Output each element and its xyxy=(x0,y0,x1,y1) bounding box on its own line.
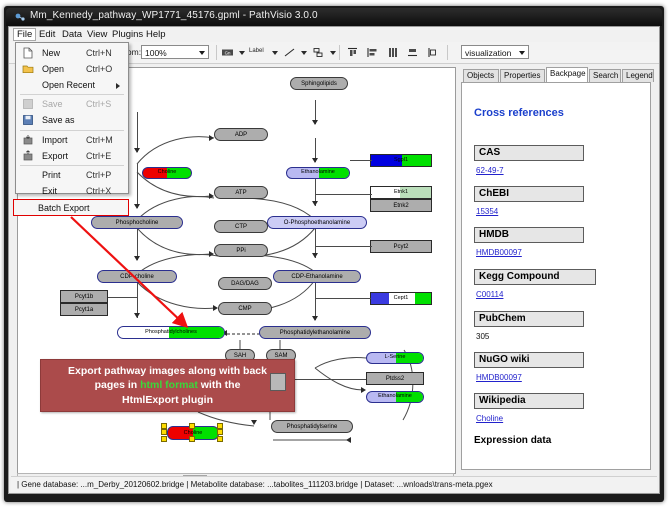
file-menu-open-label: Open xyxy=(42,64,64,74)
resize-handle-sw[interactable] xyxy=(161,436,167,442)
arrow-to-ps xyxy=(251,420,257,425)
align-center-icon[interactable] xyxy=(385,45,400,60)
file-menu-exit-label: Exit xyxy=(42,186,57,196)
align-top-icon[interactable] xyxy=(345,45,360,60)
resize-handle-e[interactable] xyxy=(217,429,223,435)
selected-node-choline[interactable]: Choline xyxy=(161,423,223,441)
file-menu-print-label: Print xyxy=(42,170,61,180)
file-menu-export-label: Export xyxy=(42,151,68,161)
file-menu-exit-accel: Ctrl+X xyxy=(86,186,111,196)
folder-open-icon xyxy=(22,63,34,75)
xref-source-nugo: NuGO wiki xyxy=(474,352,584,368)
align-left-icon[interactable] xyxy=(365,45,380,60)
node-atp[interactable]: ATP xyxy=(214,186,268,199)
side-dock: Objects Properties Backpage Search Legen… xyxy=(459,67,653,472)
node-phosphatidylserine[interactable]: Phosphatidylserine xyxy=(271,420,353,433)
tab-objects[interactable]: Objects xyxy=(463,69,499,82)
tab-legend[interactable]: Legend xyxy=(622,69,654,82)
menu-file[interactable]: File xyxy=(13,28,36,41)
zoom-value: 100% xyxy=(145,48,167,58)
arrow-choline-in xyxy=(346,437,351,443)
statusbar-text: | Gene database: ...m_Derby_20120602.bri… xyxy=(17,480,493,489)
line-dropdown-icon[interactable] xyxy=(301,51,307,55)
expression-data-heading: Expression data xyxy=(474,435,551,446)
label-dropdown-icon[interactable] xyxy=(272,51,278,55)
xref-value-wikipedia[interactable]: Choline xyxy=(476,414,503,423)
file-menu-print[interactable]: Print Ctrl+P xyxy=(16,167,128,183)
node-l-serine-label: L-Serine xyxy=(385,355,406,361)
visualization-combobox[interactable]: visualization xyxy=(461,45,529,59)
node-ethanolamine-2-label: Ethanolamine xyxy=(378,394,412,400)
tab-properties[interactable]: Properties xyxy=(500,69,545,82)
file-menu-batch-export-label: Batch Export xyxy=(38,203,90,213)
xref-value-hmdb[interactable]: HMDB00097 xyxy=(476,248,522,257)
callout-line3: HtmlExport plugin xyxy=(122,394,213,406)
callout-line2-highlight: html format xyxy=(140,379,198,391)
file-menu-import-accel: Ctrl+M xyxy=(86,135,113,145)
screenshot-root: Mm_Kennedy_pathway_WP1771_45176.gpml - P… xyxy=(0,0,670,509)
application-body: File Edit Data View Plugins Help Zoom: 1… xyxy=(8,26,660,494)
backpage-panel: Cross references CAS 62-49-7 ChEBI 15354… xyxy=(461,82,651,470)
node-adp[interactable]: ADP xyxy=(214,128,268,141)
new-file-icon xyxy=(22,47,34,59)
file-menu-save: Save Ctrl+S xyxy=(16,96,128,112)
node-o-phosphoethanolamine[interactable]: O-Phosphoethanolamine xyxy=(267,216,367,229)
file-menu-save-label: Save xyxy=(42,99,63,109)
node-sgpl1-label: Sgpl1 xyxy=(394,158,408,164)
datanode-icon[interactable]: Gn xyxy=(220,45,235,60)
xref-value-kegg[interactable]: C00114 xyxy=(476,290,503,299)
file-menu-open[interactable]: Open Ctrl+O xyxy=(16,61,128,77)
annotation-callout: Export pathway images along with back pa… xyxy=(40,359,295,412)
annotation-arrow-icon xyxy=(67,213,247,333)
file-menu-batch-export[interactable]: Batch Export xyxy=(13,199,129,216)
menu-help[interactable]: Help xyxy=(142,28,170,41)
node-ethanolamine-2[interactable]: Ethanolamine xyxy=(366,391,424,403)
xref-source-pubchem: PubChem xyxy=(474,311,584,327)
menubar: File Edit Data View Plugins Help xyxy=(9,27,659,43)
xref-value-nugo[interactable]: HMDB00097 xyxy=(476,373,522,382)
file-menu-new-accel: Ctrl+N xyxy=(86,48,112,58)
file-menu-new[interactable]: New Ctrl+N xyxy=(16,45,128,61)
file-menu-print-accel: Ctrl+P xyxy=(86,170,111,180)
dock-tabstrip: Objects Properties Backpage Search Legen… xyxy=(461,67,653,82)
file-menu-export[interactable]: Export Ctrl+E xyxy=(16,148,128,164)
xref-value-chebi[interactable]: 15354 xyxy=(476,207,498,216)
node-etnk1[interactable]: Etnk1 xyxy=(370,186,432,199)
import-icon xyxy=(22,134,34,146)
anchor-icon[interactable] xyxy=(311,45,326,60)
line-icon[interactable] xyxy=(282,45,297,60)
node-cdp-ethanolamine[interactable]: CDP-Ethanolamine xyxy=(273,270,361,283)
resize-handle-n[interactable] xyxy=(189,423,195,429)
stack-icon[interactable] xyxy=(425,45,440,60)
arrow-to-ethanolamine2 xyxy=(361,387,366,393)
file-menu-exit[interactable]: Exit Ctrl+X xyxy=(16,183,128,199)
visualization-value: visualization xyxy=(465,48,511,58)
node-ptdss2[interactable]: Ptdss2 xyxy=(366,372,424,385)
menu-data[interactable]: Data xyxy=(58,28,86,41)
save-as-icon xyxy=(22,114,34,126)
xref-source-wikipedia: Wikipedia xyxy=(474,393,584,409)
menu-edit[interactable]: Edit xyxy=(35,28,59,41)
backpage-heading: Cross references xyxy=(474,107,564,119)
file-menu-save-as[interactable]: Save as xyxy=(16,112,128,128)
chevron-down-icon xyxy=(199,51,205,55)
xref-value-cas[interactable]: 62-49-7 xyxy=(476,166,504,175)
node-pcyt2[interactable]: Pcyt2 xyxy=(370,240,432,253)
node-sphingolipids[interactable]: Sphingolipids xyxy=(290,77,348,90)
file-menu-dropdown[interactable]: New Ctrl+N Open Ctrl+O Open Recent Save xyxy=(15,42,129,194)
xref-source-kegg: Kegg Compound xyxy=(474,269,596,285)
window-title: Mm_Kennedy_pathway_WP1771_45176.gpml - P… xyxy=(30,10,318,21)
callout-line2-b: with the xyxy=(198,379,241,391)
node-l-serine[interactable]: L-Serine xyxy=(366,352,424,364)
statusbar: | Gene database: ...m_Derby_20120602.bri… xyxy=(11,476,657,492)
label-tool-label[interactable]: Label xyxy=(249,48,264,54)
xref-source-cas: CAS xyxy=(474,145,584,161)
tab-backpage[interactable]: Backpage xyxy=(546,67,588,82)
save-icon xyxy=(22,98,34,110)
file-menu-import[interactable]: Import Ctrl+M xyxy=(16,132,128,148)
file-menu-import-label: Import xyxy=(42,135,68,145)
node-choline-top[interactable]: Choline xyxy=(142,167,192,179)
node-etnk2[interactable]: Etnk2 xyxy=(370,199,432,212)
node-choline-top-label: Choline xyxy=(158,170,177,176)
annotation-callout-text: Export pathway images along with back pa… xyxy=(68,364,267,407)
file-menu-save-as-label: Save as xyxy=(42,115,75,125)
node-cept1[interactable]: Cept1 xyxy=(370,292,432,305)
selected-node-choline-label: Choline xyxy=(184,430,203,436)
xref-value-pubchem: 305 xyxy=(476,332,489,341)
resize-handle-w[interactable] xyxy=(161,429,167,435)
shape-dropdown-icon[interactable] xyxy=(330,51,336,55)
node-ethanolamine-label: Ethanolamine xyxy=(301,170,335,176)
zoom-combobox[interactable]: 100% xyxy=(141,45,209,59)
resize-handle-se[interactable] xyxy=(217,436,223,442)
interaction-anchor-box[interactable] xyxy=(270,373,286,391)
node-cept1-label: Cept1 xyxy=(394,296,409,302)
xref-source-chebi: ChEBI xyxy=(474,186,584,202)
file-menu-save-accel: Ctrl+S xyxy=(86,99,111,109)
file-menu-new-label: New xyxy=(42,48,60,58)
node-etnk1-label: Etnk1 xyxy=(394,190,408,196)
node-sgpl1[interactable]: Sgpl1 xyxy=(370,154,432,167)
file-menu-open-recent[interactable]: Open Recent xyxy=(16,77,128,93)
window-titlebar: Mm_Kennedy_pathway_WP1771_45176.gpml - P… xyxy=(6,8,662,26)
pathvisio-app-icon xyxy=(14,11,26,23)
align-right-icon[interactable] xyxy=(405,45,420,60)
file-menu-export-accel: Ctrl+E xyxy=(86,151,111,161)
chevron-down-icon xyxy=(519,51,525,55)
resize-handle-s[interactable] xyxy=(189,436,195,442)
export-icon xyxy=(22,150,34,162)
xref-source-hmdb: HMDB xyxy=(474,227,584,243)
callout-line1: Export pathway images along with back xyxy=(68,365,267,377)
node-phosphatidylethanolamine[interactable]: Phosphatidylethanolamine xyxy=(259,326,371,339)
svg-text:Gn: Gn xyxy=(225,50,231,55)
file-menu-open-accel: Ctrl+O xyxy=(86,64,112,74)
file-menu-open-recent-label: Open Recent xyxy=(42,80,95,90)
callout-line2-a: pages in xyxy=(95,379,141,391)
tab-search[interactable]: Search xyxy=(589,69,621,82)
datanode-dropdown-icon[interactable] xyxy=(239,51,245,55)
node-ethanolamine[interactable]: Ethanolamine xyxy=(286,167,350,179)
chevron-right-icon xyxy=(116,83,120,89)
